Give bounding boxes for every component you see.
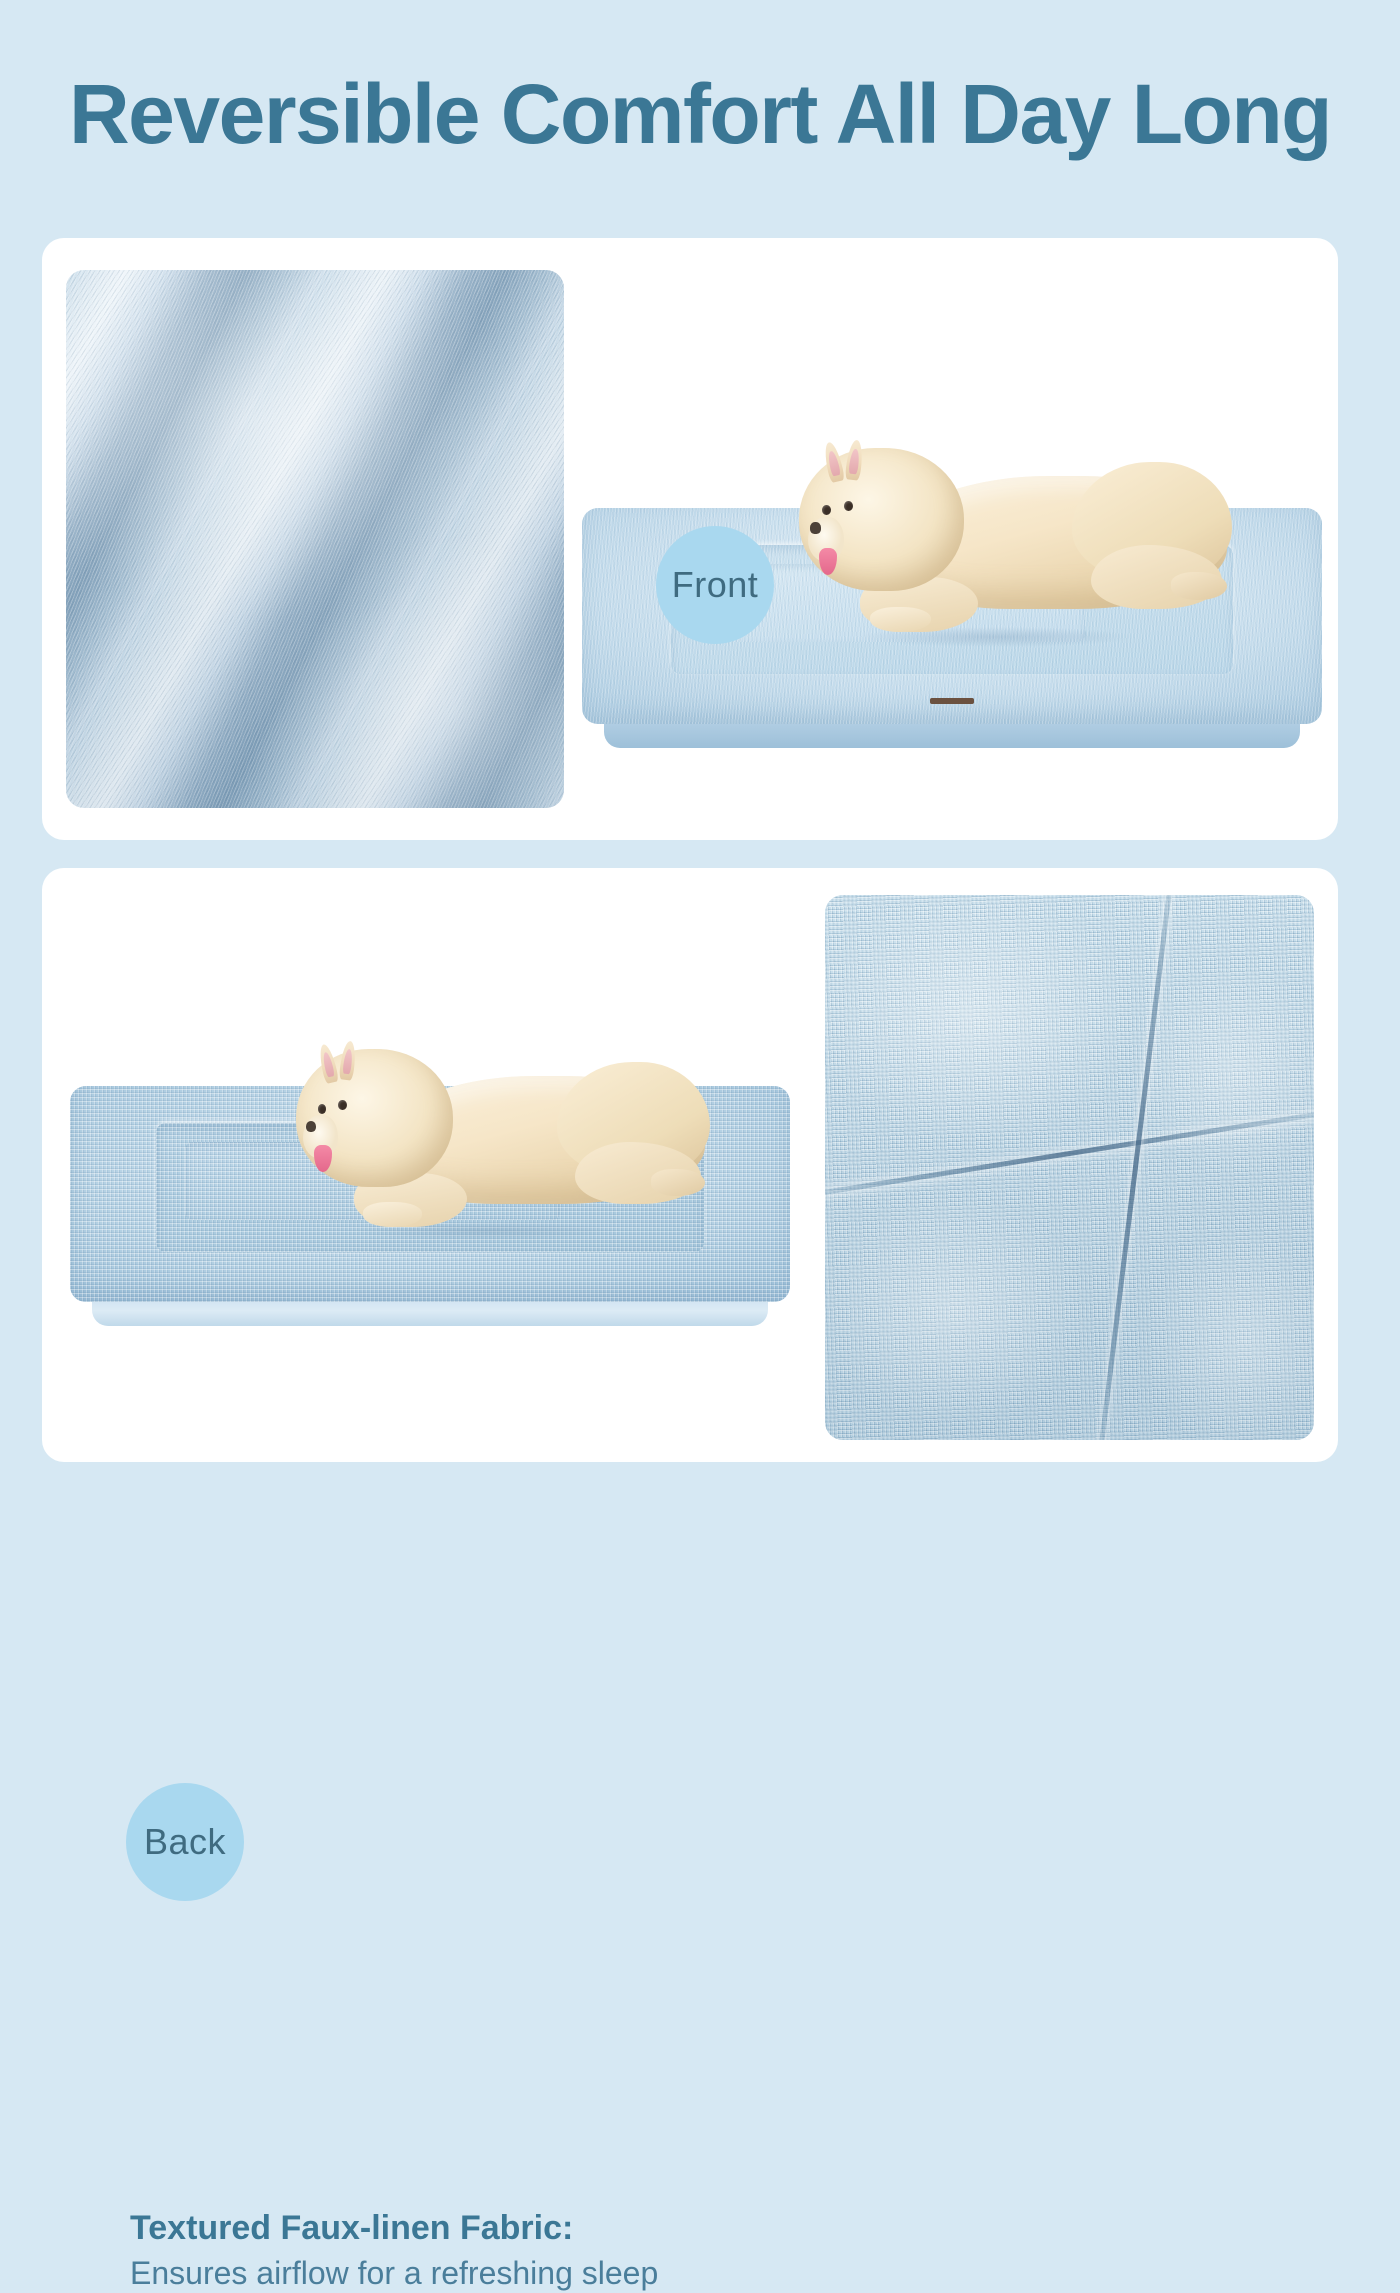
caption-back-subtitle: Ensures airflow for a refreshing sleep (130, 2254, 658, 2293)
badge-back-label: Back (144, 1821, 226, 1863)
feature-card-back: Back Textured Faux-linen Fabric: Ensures… (42, 868, 1338, 1462)
page-title: Reversible Comfort All Day Long (0, 72, 1400, 156)
dog-head (296, 1049, 454, 1187)
french-bulldog-front (757, 416, 1227, 646)
caption-back-title: Textured Faux-linen Fabric: (130, 2208, 658, 2248)
fur-sheen-overlay (66, 270, 564, 808)
badge-front-label: Front (672, 564, 759, 606)
faux-linen-texture-photo (825, 895, 1314, 1440)
badge-front: Front (656, 526, 774, 644)
dog-front-paw (363, 1202, 422, 1226)
caption-back: Textured Faux-linen Fabric: Ensures airf… (130, 2208, 658, 2293)
dog-ear-right (845, 439, 865, 480)
dog-head (799, 448, 964, 591)
dog-nose (306, 1121, 316, 1132)
dog-tongue (314, 1145, 331, 1171)
dog-tongue (819, 548, 837, 575)
dog-ear-inner-left (826, 451, 840, 478)
dog-ear-right (339, 1040, 358, 1080)
dog-on-linen-side-photo (70, 996, 790, 1326)
dog-eye-left (822, 505, 831, 515)
dog-ear-left (317, 1042, 339, 1083)
dog-ear-inner-right (343, 1049, 354, 1074)
dog-nose (810, 522, 821, 533)
dog-shadow (804, 623, 1189, 651)
feature-card-front: Front Cozy Faux Fur: Keeps your puppy wa… (42, 238, 1338, 840)
dog-hind-paw (651, 1169, 705, 1196)
dog-ear-inner-right (849, 448, 861, 474)
dog-front-paw (870, 607, 931, 632)
faux-fur-texture-photo (66, 270, 564, 808)
french-bulldog-back (255, 1018, 705, 1240)
dog-hind-paw (1171, 572, 1227, 600)
badge-back: Back (126, 1783, 244, 1901)
dog-ear-inner-left (321, 1051, 335, 1077)
dog-eye-right (844, 501, 853, 511)
brand-label-tag (930, 698, 974, 704)
dog-ear-left (821, 441, 844, 483)
dog-eye-left (318, 1104, 327, 1114)
dog-eye-right (338, 1100, 347, 1110)
linen-puff-shading (825, 895, 1314, 1440)
